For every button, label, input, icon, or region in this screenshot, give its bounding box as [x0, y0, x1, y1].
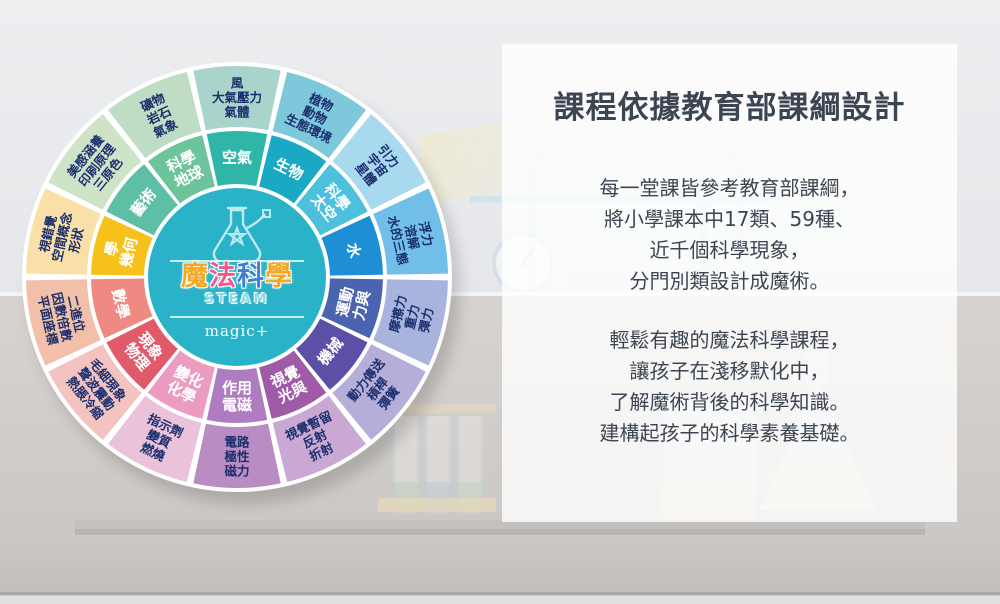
panel-p1-line2: 將小學課本中17類、59種、 — [502, 204, 957, 235]
paragraph-gap — [502, 297, 957, 325]
panel-body: 每一堂課皆參考教育部課綱， 將小學課本中17類、59種、 近千個科學現象， 分門… — [502, 173, 957, 449]
outer-slice-label: 極性 — [224, 449, 250, 464]
hub-divider-bottom — [170, 316, 304, 318]
hub-tagline: magic+ — [148, 322, 326, 340]
shelf-lower — [75, 529, 925, 535]
curriculum-wheel[interactable]: 氣象岩石礦物氣體大氣壓力風生態環境動物植物星體宇宙引力水的三態溶解浮力彈力重力摩… — [22, 62, 462, 502]
panel-p2-line4: 建構起孩子的科學素養基礎。 — [502, 418, 957, 449]
panel-p1-line3: 近千個科學現象， — [502, 235, 957, 266]
hub-brand-char-3: 科 — [237, 261, 265, 292]
outer-slice-label: 磁力 — [223, 464, 249, 479]
panel-p2-line1: 輕鬆有趣的魔法科學課程， — [502, 325, 957, 356]
hub-brand-title: 魔法科學 — [148, 262, 326, 292]
panel-p2-line2: 讓孩子在淺移默化中， — [502, 356, 957, 387]
hub-brand-char-4: 學 — [265, 261, 293, 292]
bottom-bar — [0, 595, 1000, 604]
panel-title: 課程依據教育部課綱設計 — [502, 82, 957, 127]
flask-star-icon — [201, 204, 273, 262]
outer-slice-label: 氣體 — [224, 105, 250, 120]
wheel-hub: 魔法科學 STEAM magic+ — [148, 188, 326, 366]
info-panel: 課程依據教育部課綱設計 每一堂課皆參考教育部課綱， 將小學課本中17類、59種、… — [502, 44, 957, 522]
inner-slice-label: 作用 — [222, 379, 252, 397]
panel-p1-line4: 分門別類設計成魔術。 — [502, 266, 957, 297]
slide-canvas: 氣象岩石礦物氣體大氣壓力風生態環境動物植物星體宇宙引力水的三態溶解浮力彈力重力摩… — [0, 0, 1000, 604]
panel-p1-line1: 每一堂課皆參考教育部課綱， — [502, 173, 957, 204]
outer-slice-label: 電路 — [224, 435, 250, 450]
outer-slice-label: 風 — [231, 76, 244, 91]
hub-brand-char-1: 魔 — [181, 261, 209, 292]
panel-p2-line3: 了解魔術背後的科學知識。 — [502, 387, 957, 418]
hub-brand-char-2: 法 — [209, 261, 237, 292]
wheel-disc: 氣象岩石礦物氣體大氣壓力風生態環境動物植物星體宇宙引力水的三態溶解浮力彈力重力摩… — [22, 62, 452, 492]
inner-slice-label: 空氣 — [222, 149, 252, 167]
outer-slice-label: 大氣壓力 — [212, 90, 262, 105]
hub-steam-label: STEAM — [148, 292, 326, 307]
inner-slice-label: 電磁 — [222, 396, 252, 414]
